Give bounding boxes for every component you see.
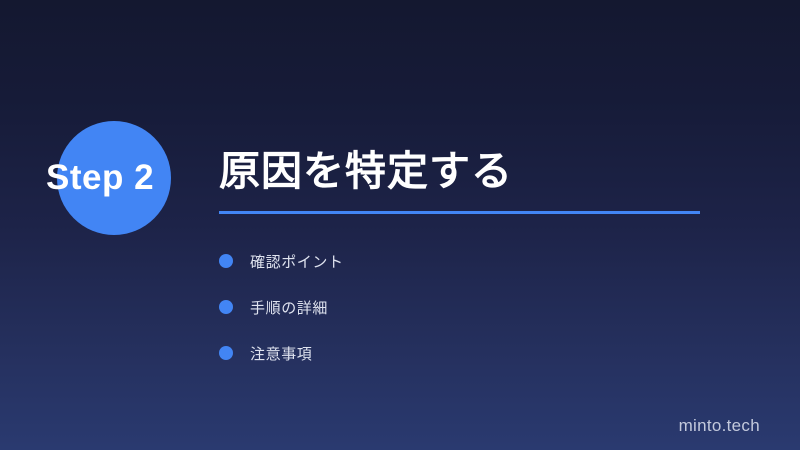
- dot-icon: [219, 254, 233, 268]
- list-item: 手順の詳細: [219, 284, 639, 330]
- dot-icon: [219, 346, 233, 360]
- bullet-list: 確認ポイント 手順の詳細 注意事項: [219, 238, 639, 376]
- list-item: 注意事項: [219, 330, 639, 376]
- list-item-label: 手順の詳細: [250, 297, 328, 318]
- list-item-label: 確認ポイント: [250, 251, 344, 272]
- step-badge-label: Step 2: [46, 155, 206, 201]
- footer-watermark: minto.tech: [679, 416, 760, 436]
- title-underline-rule: [219, 211, 700, 214]
- list-item-label: 注意事項: [250, 343, 312, 364]
- slide-canvas: Step 2 原因を特定する 確認ポイント 手順の詳細 注意事項 minto.t…: [0, 0, 800, 450]
- slide-title: 原因を特定する: [219, 146, 513, 196]
- list-item: 確認ポイント: [219, 238, 639, 284]
- dot-icon: [219, 300, 233, 314]
